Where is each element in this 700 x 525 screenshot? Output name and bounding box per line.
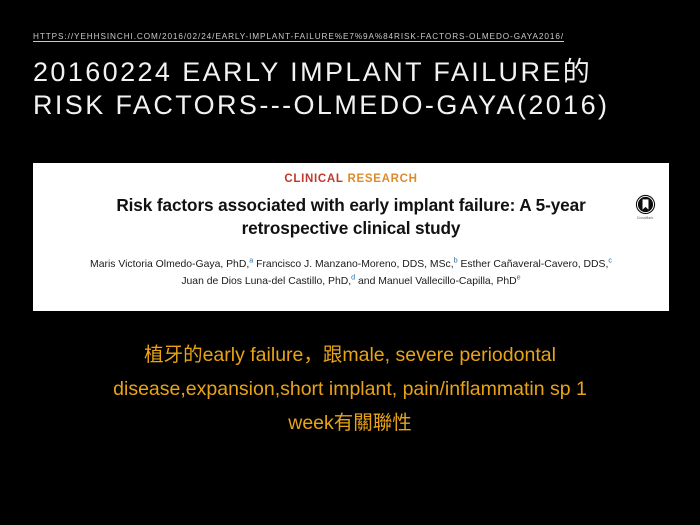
author-affiliation-marker: a <box>249 256 253 265</box>
paper-title-line-2: retrospective clinical study <box>59 217 643 240</box>
paper-authors-line-2: Juan de Dios Luna-del Castillo, PhD,d an… <box>51 273 651 290</box>
crossmark-label: CrossMark <box>631 216 659 220</box>
page-title-line-2: RISK FACTORS---OLMEDO-GAYA(2016) <box>33 89 681 122</box>
crossmark-icon <box>635 194 656 215</box>
source-url-link[interactable]: HTTPS://YEHHSINCHI.COM/2016/02/24/EARLY-… <box>33 32 673 41</box>
journal-section-kicker: CLINICAL RESEARCH <box>33 173 669 185</box>
summary-note: 植牙的early failure，跟male, severe periodont… <box>30 338 670 440</box>
summary-line-1: 植牙的early failure，跟male, severe periodont… <box>30 338 670 372</box>
paper-authors-line-1: Maris Victoria Olmedo-Gaya, PhD,a Franci… <box>51 256 651 273</box>
slide-canvas: HTTPS://YEHHSINCHI.COM/2016/02/24/EARLY-… <box>0 0 700 525</box>
author-affiliation-marker: e <box>517 273 521 282</box>
paper-authors: Maris Victoria Olmedo-Gaya, PhD,a Franci… <box>51 256 651 290</box>
page-title: 20160224 EARLY IMPLANT FAILURE的 RISK FAC… <box>33 56 681 122</box>
kicker-secondary: RESEARCH <box>348 173 418 185</box>
summary-line-3: week有關聯性 <box>30 406 670 440</box>
crossmark-badge[interactable]: CrossMark <box>631 194 659 220</box>
paper-header-image: CLINICAL RESEARCH Risk factors associate… <box>33 163 669 311</box>
paper-title: Risk factors associated with early impla… <box>59 194 643 240</box>
author-affiliation-marker: b <box>454 256 458 265</box>
author-affiliation-marker: d <box>351 273 355 282</box>
paper-title-line-1: Risk factors associated with early impla… <box>59 194 643 217</box>
kicker-primary: CLINICAL <box>284 173 343 185</box>
summary-line-2: disease,expansion,short implant, pain/in… <box>30 372 670 406</box>
page-title-line-1: 20160224 EARLY IMPLANT FAILURE的 <box>33 56 681 89</box>
author-affiliation-marker: c <box>608 256 612 265</box>
